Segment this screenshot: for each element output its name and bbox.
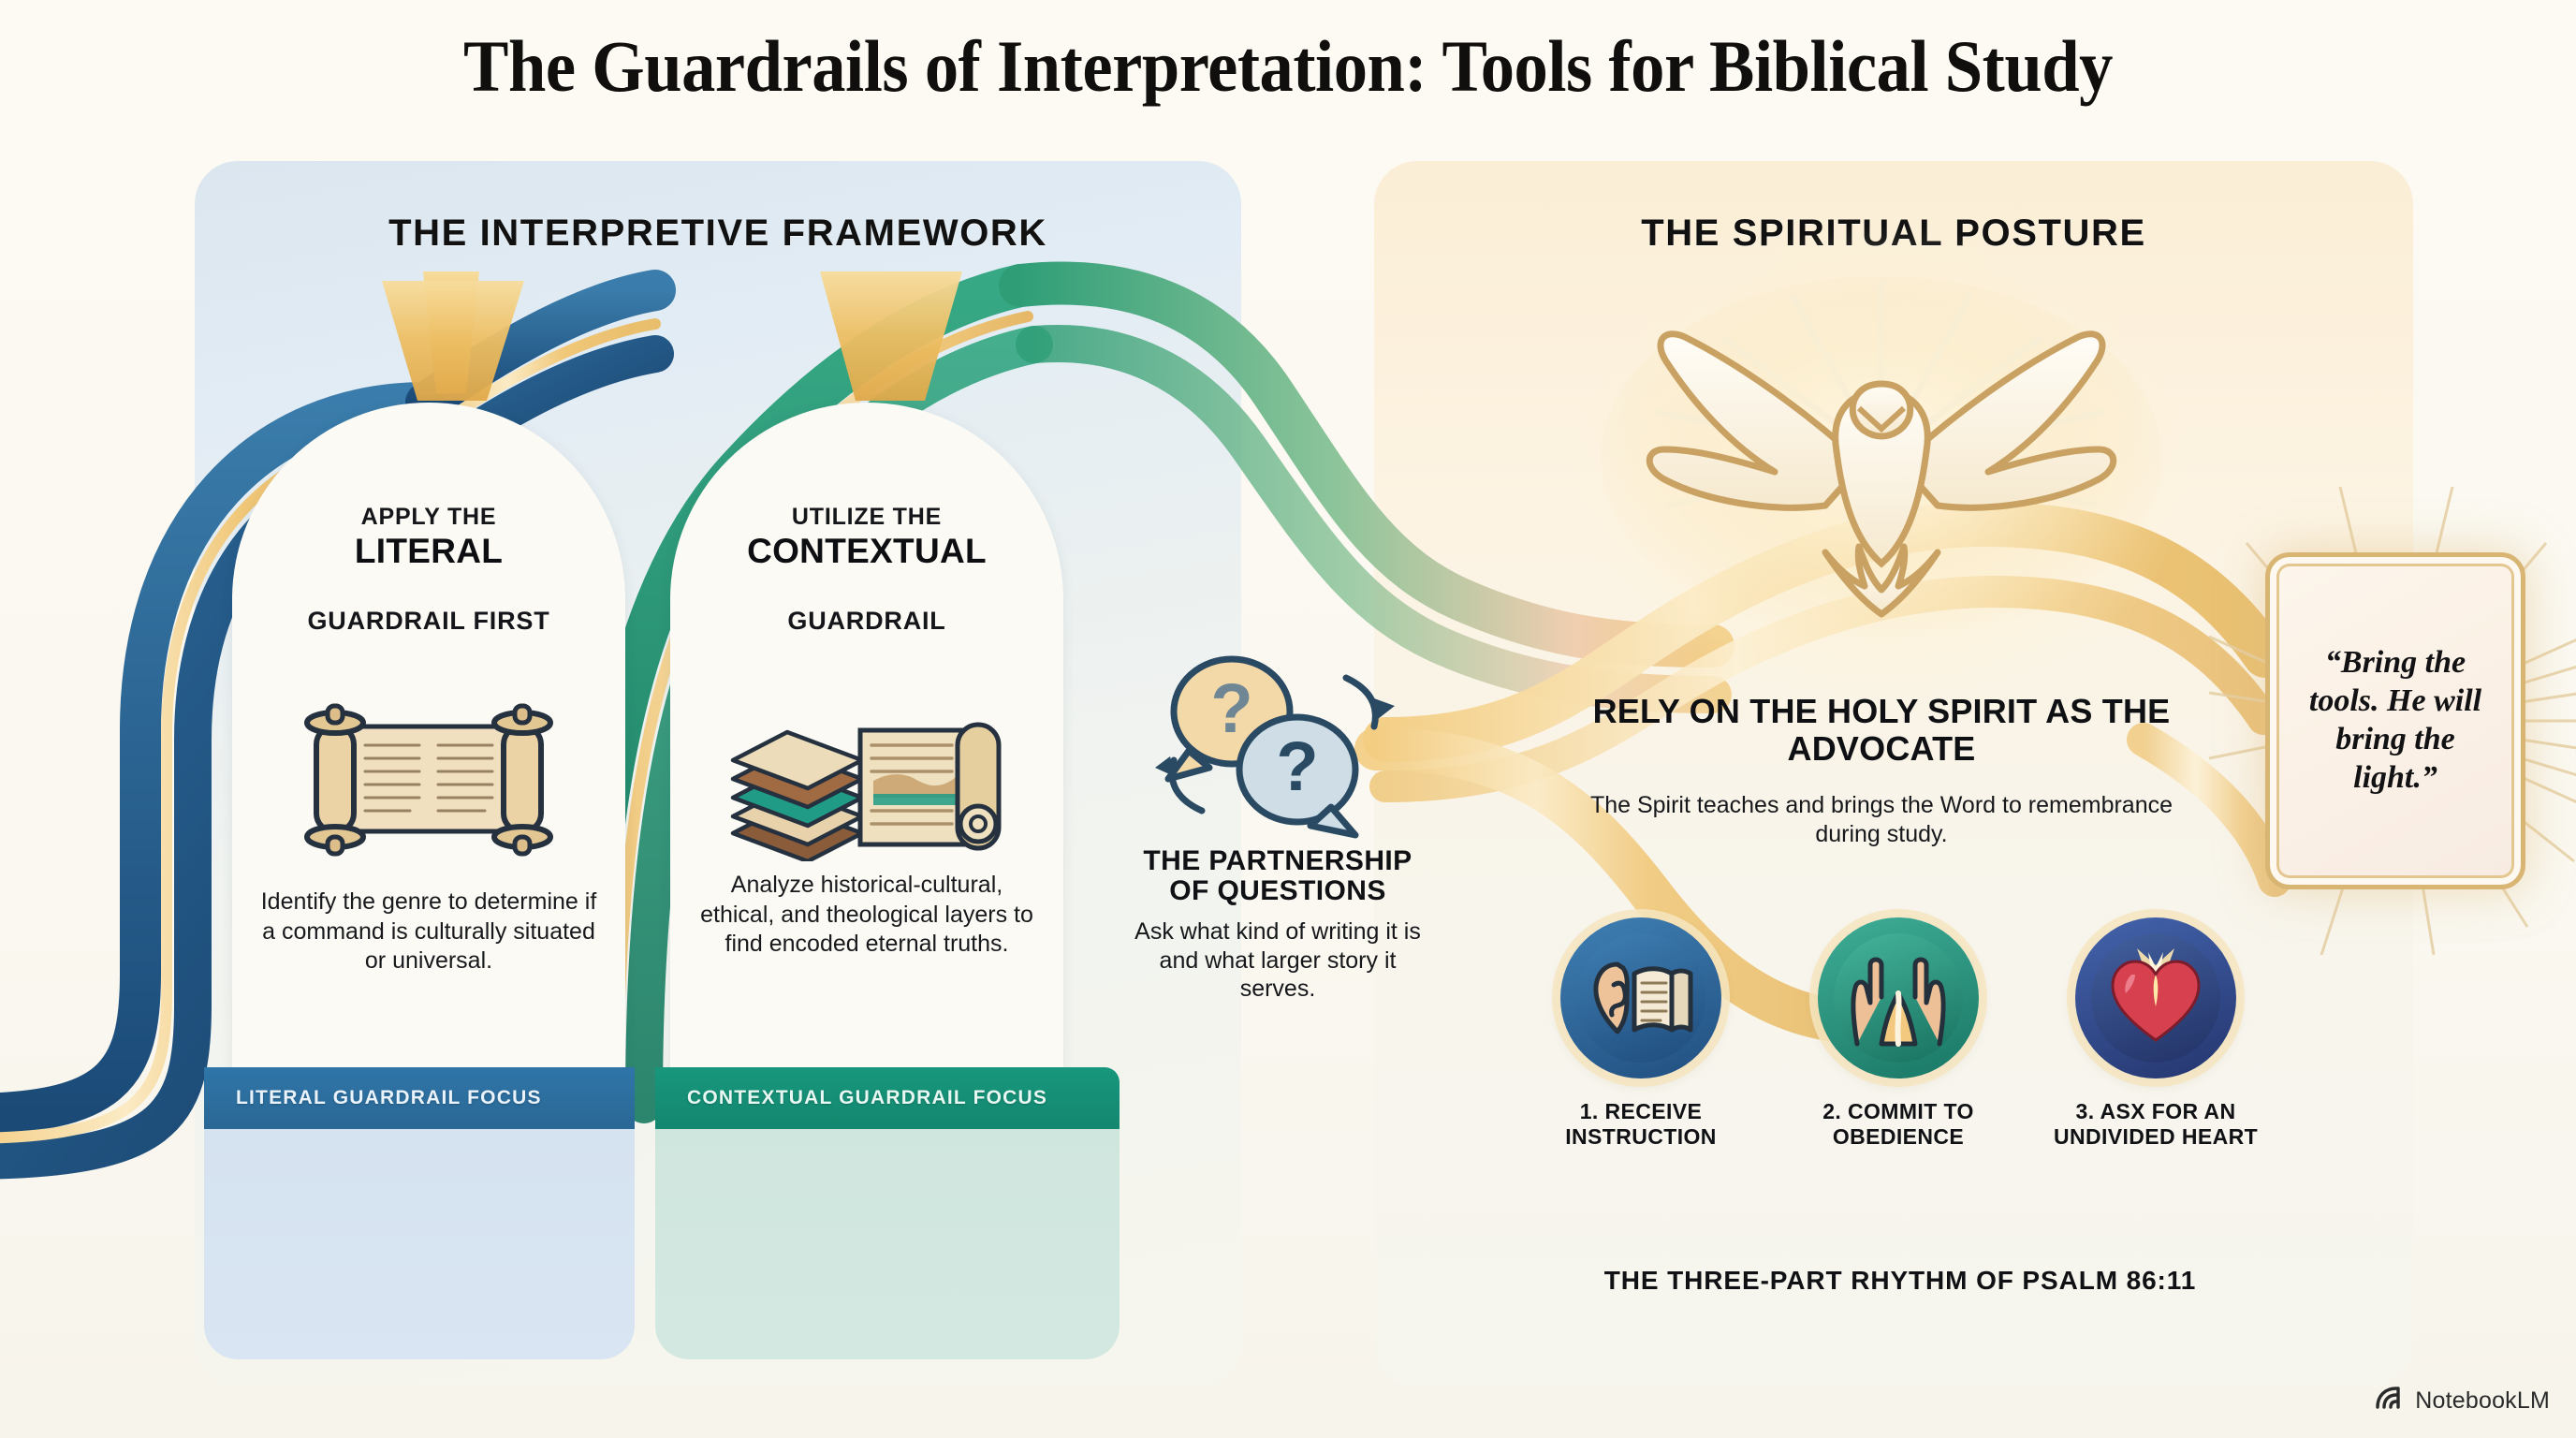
question-bubbles-icon: ? ?	[1123, 646, 1432, 843]
focus-pad-contextual	[655, 1129, 1120, 1359]
notebooklm-icon	[2374, 1385, 2406, 1417]
card-contextual-body: Analyze historical-cultural, ethical, an…	[698, 871, 1035, 960]
layered-scroll-icon	[670, 693, 1063, 866]
card-literal-body: Identify the genre to determine if a com…	[260, 888, 597, 976]
notebooklm-watermark: NotebookLM	[2374, 1385, 2550, 1417]
rhythm-item-2[interactable]: 2. COMMIT TO OBEDIENCE	[1781, 917, 2015, 1149]
heart-with-light-icon	[2091, 933, 2220, 1063]
rhythm-item-3[interactable]: 3. ASX FOR AN UNDIVIDED HEART	[2039, 917, 2273, 1149]
focus-bar-literal: LITERAL GUARDRAIL FOCUS	[204, 1067, 635, 1129]
focus-pad-literal	[204, 1129, 635, 1359]
dove-icon	[1591, 271, 2172, 674]
questions-block: ? ? THE PARTNERSHIP OF QUESTIONS Ask wha…	[1123, 646, 1432, 1004]
rhythm-ring-1	[1560, 917, 1721, 1078]
rhythm-caption: THE THREE-PART RHYTHM OF PSALM 86:11	[1507, 1266, 2293, 1296]
rhythm-ring-2	[1818, 917, 1979, 1078]
scroll-icon	[232, 700, 625, 864]
page-title: The Guardrails of Interpretation: Tools …	[90, 24, 2485, 109]
focus-label-literal: LITERAL GUARDRAIL FOCUS	[236, 1087, 542, 1109]
card-contextual-sub: GUARDRAIL	[670, 607, 1063, 636]
focus-bar-contextual: CONTEXTUAL GUARDRAIL FOCUS	[655, 1067, 1120, 1129]
card-contextual-head: CONTEXTUAL	[670, 534, 1063, 569]
panel-left-title: THE INTERPRETIVE FRAMEWORK	[195, 213, 1241, 255]
spirit-body: The Spirit teaches and brings the Word t…	[1573, 791, 2190, 848]
quote-text: “Bring the tools. He will bring the ligh…	[2270, 644, 2521, 797]
spirit-heading: RELY ON THE HOLY SPIRIT AS THE ADVOCATE	[1582, 693, 2181, 767]
ear-and-book-icon	[1576, 933, 1705, 1063]
notebooklm-label: NotebookLM	[2415, 1387, 2550, 1415]
card-contextual-kicker: UTILIZE THE	[670, 504, 1063, 531]
rhythm-ring-3	[2075, 917, 2236, 1078]
panel-right-title: THE SPIRITUAL POSTURE	[1374, 213, 2413, 255]
card-contextual-guardrail[interactable]: UTILIZE THE CONTEXTUAL GUARDRAIL	[670, 403, 1063, 1105]
card-literal-sub: GUARDRAIL FIRST	[232, 607, 625, 636]
questions-body: Ask what kind of writing it is and what …	[1123, 917, 1432, 1004]
rhythm-label-3: 3. ASX FOR AN UNDIVIDED HEART	[2039, 1099, 2273, 1149]
card-literal-kicker: APPLY THE	[232, 504, 625, 531]
quote-card: “Bring the tools. He will bring the ligh…	[2265, 552, 2525, 889]
card-literal-guardrail[interactable]: APPLY THE LITERAL GUARDRAIL FIRST	[232, 403, 625, 1105]
card-literal-head: LITERAL	[232, 534, 625, 569]
rhythm-label-1: 1. RECEIVE INSTRUCTION	[1524, 1099, 1758, 1149]
rhythm-label-2: 2. COMMIT TO OBEDIENCE	[1781, 1099, 2015, 1149]
questions-title: THE PARTNERSHIP OF QUESTIONS	[1123, 846, 1432, 906]
svg-text:?: ?	[1276, 727, 1318, 805]
open-hands-path-icon	[1834, 933, 1963, 1063]
svg-text:?: ?	[1210, 669, 1252, 747]
rhythm-row: 1. RECEIVE INSTRUCTION 2. COMMIT TO OBED…	[1524, 917, 2273, 1149]
rhythm-item-1[interactable]: 1. RECEIVE INSTRUCTION	[1524, 917, 1758, 1149]
focus-label-contextual: CONTEXTUAL GUARDRAIL FOCUS	[687, 1087, 1047, 1109]
infographic-canvas: The Guardrails of Interpretation: Tools …	[0, 0, 2576, 1438]
